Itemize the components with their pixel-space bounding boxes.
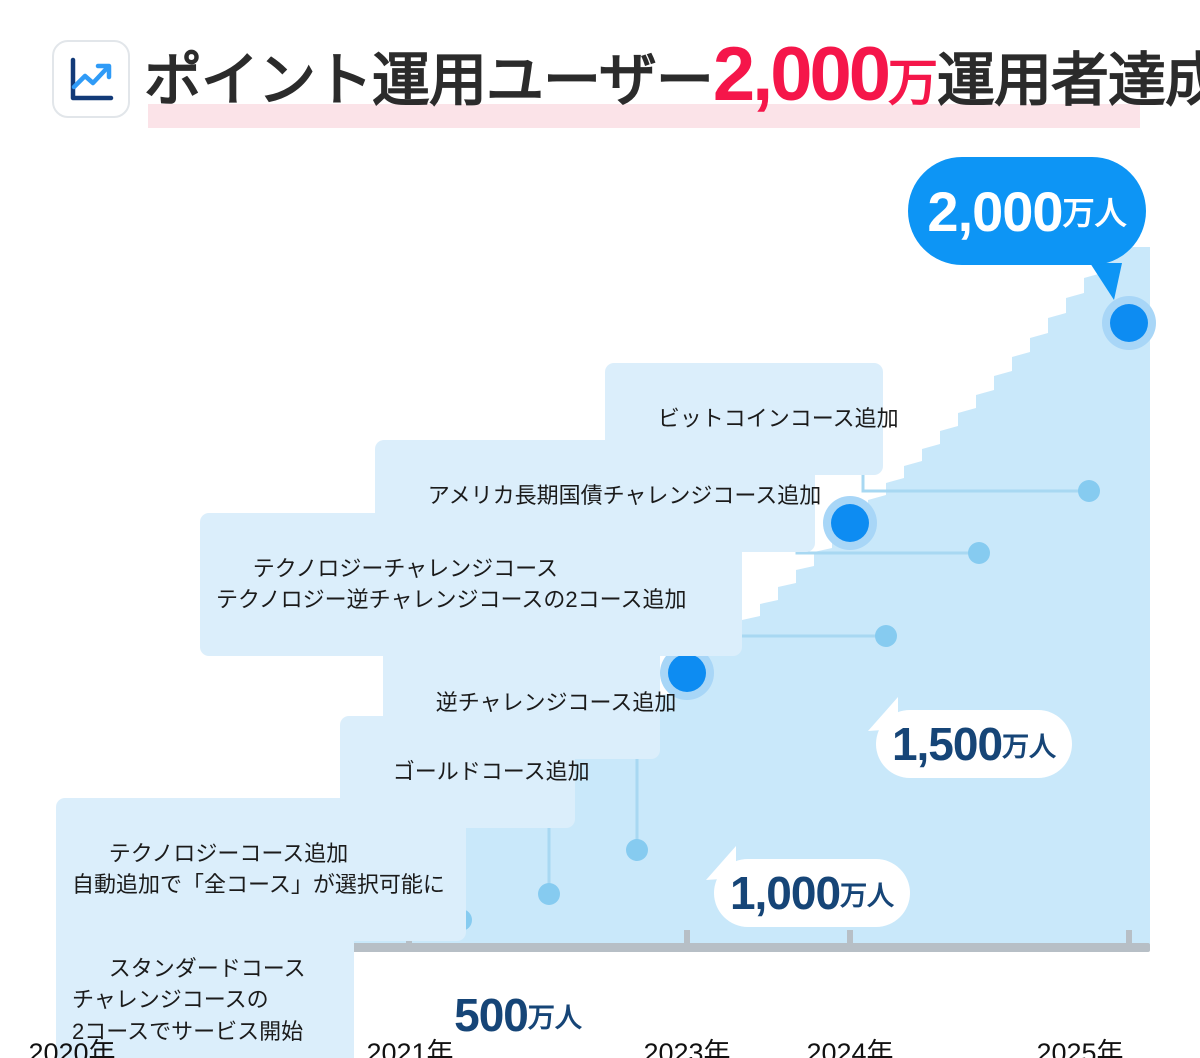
x-axis-label-2023: 2023年 4月	[597, 965, 777, 1058]
annotation-technology-challenge-courses: テクノロジーチャレンジコース テクノロジー逆チャレンジコースの2コース追加	[200, 513, 742, 656]
growth-area-chart: ビットコインコース追加 アメリカ長期国債チャレンジコース追加 テクノロジーチャレ…	[0, 150, 1200, 1058]
milestone-number: 2,000	[927, 179, 1062, 244]
annotation-text: 逆チャレンジコース追加	[436, 690, 677, 715]
annotation-text: テクノロジーチャレンジコース テクノロジー逆チャレンジコースの2コース追加	[216, 556, 687, 612]
x-axis-label-2024: 2024年 3月	[760, 965, 940, 1058]
event-dot-technology-challenge	[875, 625, 897, 647]
title-prefix: ポイント運用ユーザー	[144, 33, 713, 117]
annotation-text: テクノロジーコース追加 自動追加で「全コース」が選択可能に	[72, 841, 445, 897]
event-dot-bitcoin	[1078, 480, 1100, 502]
milestone-marker-1500	[831, 504, 869, 542]
page-title: ポイント運用ユーザー2,000万運用者達成！	[144, 33, 1200, 125]
milestone-unit: 万人	[1002, 725, 1056, 764]
milestone-number: 1,500	[892, 717, 1002, 771]
annotation-text: アメリカ長期国債チャレンジコース追加	[428, 483, 822, 508]
line-chart-icon	[52, 40, 130, 118]
x-axis-label-2021: 2021年 12月	[320, 965, 500, 1058]
milestone-bubble-1000: 1,000万人	[714, 859, 910, 927]
title-suffix: 運用者達成！	[937, 33, 1200, 117]
x-axis-year: 2023年	[597, 1036, 777, 1058]
x-axis-year: 2025年	[990, 1036, 1170, 1058]
title-number: 2,000	[713, 41, 888, 109]
title-number-unit: 万	[888, 43, 937, 115]
milestone-bubble-2000: 2,000万人	[908, 157, 1146, 265]
annotation-text: ゴールドコース追加	[393, 759, 590, 784]
x-axis-label-2025: 2025年 5月	[990, 965, 1170, 1058]
milestone-unit: 万人	[528, 996, 582, 1035]
infographic-page: ポイント運用ユーザー2,000万運用者達成！	[0, 0, 1200, 1058]
event-dot-gold-course	[538, 883, 560, 905]
x-axis-label-2020: 2020年 4月	[0, 965, 162, 1058]
milestone-marker-2000	[1110, 304, 1148, 342]
header: ポイント運用ユーザー2,000万運用者達成！	[0, 0, 1200, 150]
milestone-unit: 万人	[840, 874, 894, 913]
x-axis-year: 2024年	[760, 1036, 940, 1058]
x-axis-year: 2020年	[0, 1036, 162, 1058]
milestone-number: 1,000	[730, 866, 840, 920]
event-dot-reverse-challenge	[626, 839, 648, 861]
milestone-unit: 万人	[1063, 188, 1127, 234]
milestone-marker-1000	[668, 654, 706, 692]
milestone-bubble-1500: 1,500万人	[876, 710, 1072, 778]
event-dot-us-bond	[968, 542, 990, 564]
x-axis-year: 2021年	[320, 1036, 500, 1058]
annotation-text: ビットコインコース追加	[658, 406, 899, 431]
